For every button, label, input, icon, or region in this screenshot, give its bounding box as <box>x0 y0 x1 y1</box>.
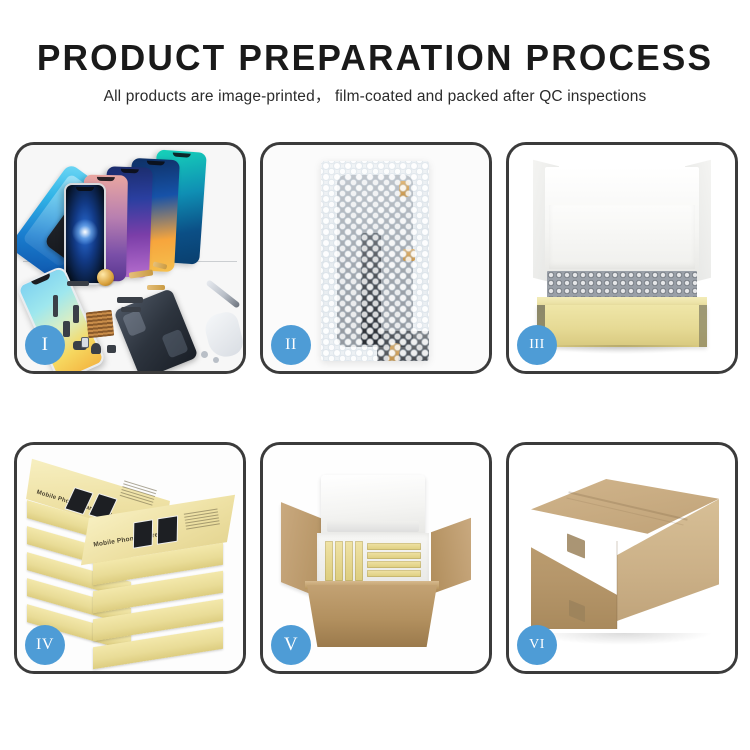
carton-corner-edge <box>616 541 618 629</box>
process-step-panel-5: V <box>260 442 492 674</box>
bubble-texture <box>321 161 429 361</box>
screw-part <box>201 351 208 358</box>
process-step-panel-2: II <box>260 142 492 374</box>
step-badge-5: V <box>271 625 311 665</box>
process-step-panel-3: III <box>506 142 738 374</box>
notch-icon <box>76 187 94 191</box>
small-part <box>107 345 116 353</box>
small-part <box>91 343 101 354</box>
small-part <box>67 281 89 286</box>
flex-cable-part <box>117 297 143 303</box>
chip-grid-part <box>86 310 115 339</box>
header: PRODUCT PREPARATION PROCESS All products… <box>0 0 750 107</box>
process-step-grid: I II <box>14 142 738 674</box>
step-badge-1: I <box>25 325 65 365</box>
speaker-part-icon <box>97 269 114 286</box>
packed-box <box>325 541 333 581</box>
notch-icon <box>173 153 191 158</box>
packed-box <box>335 541 343 581</box>
box-print-window <box>133 519 153 549</box>
process-step-panel-1: I <box>14 142 246 374</box>
packed-box <box>367 561 421 568</box>
packed-box <box>355 541 363 581</box>
process-step-panel-6: VI <box>506 442 738 674</box>
packed-box <box>345 541 353 581</box>
small-part <box>81 337 89 348</box>
boxed-parts-inside <box>325 539 421 581</box>
step-badge-2: II <box>271 325 311 365</box>
flex-cable-part <box>121 307 141 312</box>
bubble-wrap-bag <box>321 161 429 361</box>
step-badge-3: III <box>517 325 557 365</box>
drop-shadow <box>543 345 701 354</box>
small-part <box>53 295 58 317</box>
packed-box <box>367 543 421 550</box>
screw-part <box>213 357 219 363</box>
step-badge-4: IV <box>25 625 65 665</box>
yellow-box-front <box>537 305 707 347</box>
page-subtitle: All products are image-printed， film-coa… <box>0 87 750 107</box>
notch-icon <box>97 177 115 181</box>
step-badge-6: VI <box>517 625 557 665</box>
packed-box <box>367 570 421 577</box>
small-part <box>73 305 79 323</box>
page-title: PRODUCT PREPARATION PROCESS <box>8 38 743 78</box>
process-step-panel-4: Mobile Phone Spare Parts Mobile Phone Sp… <box>14 442 246 674</box>
notch-icon <box>147 161 165 166</box>
packed-box <box>367 552 421 559</box>
white-foam-sheet <box>549 205 695 269</box>
notch-icon <box>121 169 139 174</box>
drop-shadow <box>535 633 713 645</box>
foam-cooler-lid <box>321 475 425 537</box>
carton-front-face <box>307 585 437 647</box>
small-part <box>63 321 70 337</box>
box-print-window <box>157 515 178 545</box>
gold-connector-part <box>147 285 165 290</box>
